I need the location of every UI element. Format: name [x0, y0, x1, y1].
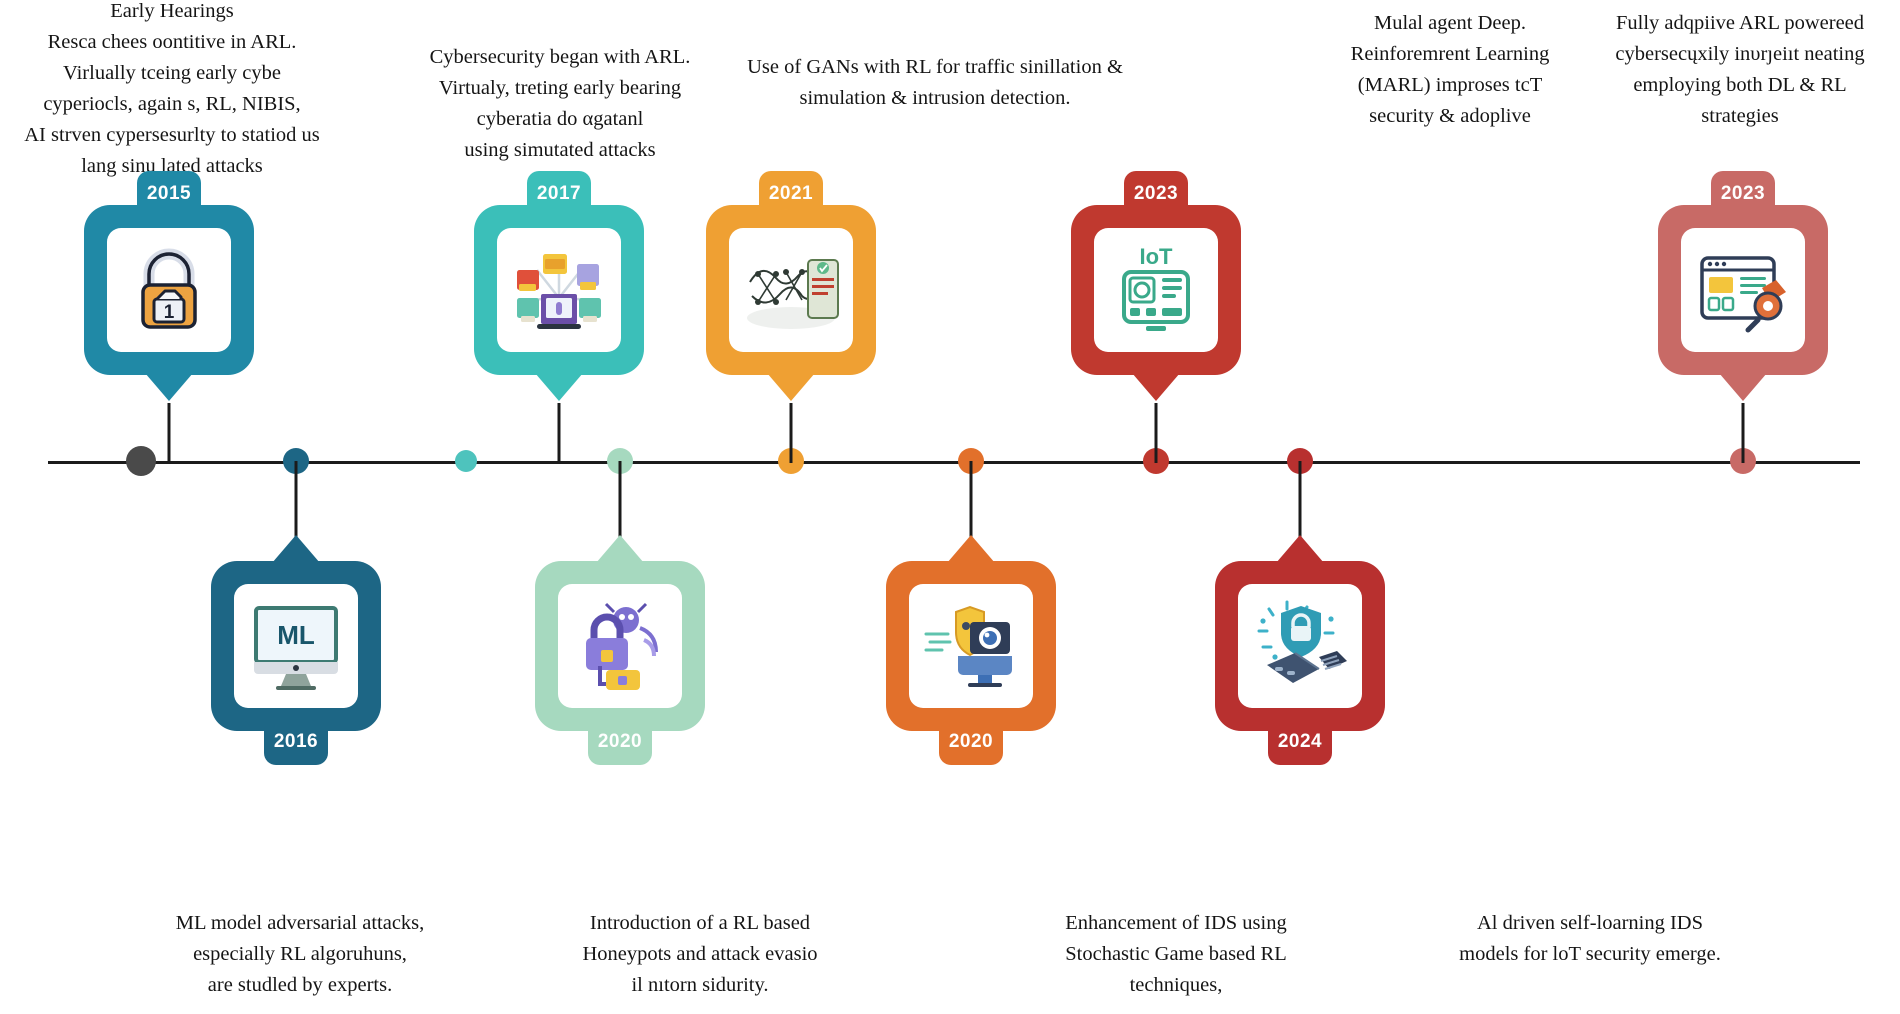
desc-line: Virlually tceing early cybe	[24, 58, 320, 89]
description-2015: Early Hearings Resca chees oontitive in …	[24, 0, 320, 182]
icon-container	[558, 584, 682, 708]
timeline-axis	[48, 461, 1860, 464]
year-label: 2023	[1134, 183, 1178, 205]
milestone-card-2020[interactable]: 2020	[535, 561, 705, 731]
year-label: 2024	[1278, 731, 1322, 753]
description-2016: ML model adversarial attacks, especially…	[176, 908, 425, 1001]
icon-container: ML	[234, 584, 358, 708]
desc-line: Virtualy, treting early bearing	[430, 73, 691, 104]
icon-container	[1681, 228, 1805, 352]
year-badge-2023a: 2023	[1124, 171, 1188, 225]
description-2023b: Fully adqpiive ARL powereed cybersecųxil…	[1615, 8, 1864, 132]
description-2021: Use of GANs with RL for traffic sinillat…	[747, 52, 1123, 114]
year-label: 2016	[274, 731, 318, 753]
stem-2017	[558, 403, 561, 463]
card-pointer	[596, 535, 644, 563]
icon-container	[497, 228, 621, 352]
desc-line: techniques,	[1065, 970, 1286, 1001]
ids-shield-monitor-icon	[920, 600, 1022, 692]
icon-container	[1238, 584, 1362, 708]
stem-2021	[790, 403, 793, 463]
milestone-card-2017[interactable]: 2017	[474, 205, 644, 375]
year-label: 2023	[1721, 183, 1765, 205]
year-badge-2020b: 2020	[939, 711, 1003, 765]
desc-line: Resca chees oontitive in ARL.	[24, 27, 320, 58]
desc-line: Early Hearings	[24, 0, 320, 27]
card-pointer	[145, 373, 193, 401]
iot-device-icon: IoT	[1106, 242, 1206, 338]
desc-line: (MARL) improses tcT	[1351, 70, 1550, 101]
desc-line: Reinforemrent Learning	[1351, 39, 1550, 70]
card-pointer	[272, 535, 320, 563]
dot-origin	[126, 446, 156, 476]
desc-line: Fully adqpiive ARL powereed	[1615, 8, 1864, 39]
desc-line: Stochastic Game based RL	[1065, 939, 1286, 970]
card-pointer	[1276, 535, 1324, 563]
desc-line: simulation & intrusion detection.	[747, 83, 1123, 114]
icon-container: IoT	[1094, 228, 1218, 352]
dot-2017	[455, 450, 477, 472]
desc-line: AI strven cypersesurlty to statiod us	[24, 120, 320, 151]
desc-line: il nıtorn sidurity.	[582, 970, 817, 1001]
year-label: 2021	[769, 183, 813, 205]
icon-container: 1	[107, 228, 231, 352]
card-pointer	[535, 373, 583, 401]
desc-line: Mulal agent Deep.	[1351, 8, 1550, 39]
desc-line: Honeypots and attack evasio	[582, 939, 817, 970]
desc-line: cyberatia do αgatanl	[430, 104, 691, 135]
year-label: 2020	[949, 731, 993, 753]
ml-monitor-icon: ML	[246, 600, 346, 692]
year-label: 2015	[147, 183, 191, 205]
milestone-card-2021[interactable]: 2021	[706, 205, 876, 375]
desc-line: employing both DL & RL	[1615, 70, 1864, 101]
card-pointer	[947, 535, 995, 563]
milestone-card-2023a[interactable]: 2023 IoT	[1071, 205, 1241, 375]
timeline-infographic: Early Hearings Resca chees oontitive in …	[0, 0, 1900, 1014]
milestone-card-2024[interactable]: 2024	[1215, 561, 1385, 731]
desc-line: Use of GANs with RL for traffic sinillat…	[747, 52, 1123, 83]
description-2023a: Mulal agent Deep. Reinforemrent Learning…	[1351, 8, 1550, 132]
year-label: 2020	[598, 731, 642, 753]
stem-2023a	[1155, 403, 1158, 463]
card-pointer	[767, 373, 815, 401]
desc-line: especially RL algoruhuns,	[176, 939, 425, 970]
desc-line: ML model adversarial attacks,	[176, 908, 425, 939]
desc-line: using simutated attacks	[430, 135, 691, 166]
card-pointer	[1132, 373, 1180, 401]
honeypot-lock-icon	[570, 598, 670, 694]
year-badge-2023b: 2023	[1711, 171, 1775, 225]
milestone-card-2020b[interactable]: 2020	[886, 561, 1056, 731]
desc-line: Al driven self-loarning IDS	[1459, 908, 1721, 939]
padlock-icon: 1	[121, 242, 217, 338]
self-learning-ids-icon	[1249, 599, 1351, 693]
icon-container	[909, 584, 1033, 708]
svg-text:1: 1	[164, 302, 175, 323]
desc-line: Introduction of a RL based	[582, 908, 817, 939]
desc-line: cyperiocls, again s, RL, NIBIS,	[24, 89, 320, 120]
desc-line: models for loT security emerge.	[1459, 939, 1721, 970]
incident-dashboard-icon	[1692, 244, 1794, 336]
year-badge-2016: 2016	[264, 711, 328, 765]
stem-2015	[168, 403, 171, 463]
description-2024: Al driven self-loarning IDS models for l…	[1459, 908, 1721, 970]
desc-line: Enhancement of IDS using	[1065, 908, 1286, 939]
year-badge-2017: 2017	[527, 171, 591, 225]
year-badge-2024: 2024	[1268, 711, 1332, 765]
gan-traffic-icon	[738, 244, 844, 336]
year-badge-2021: 2021	[759, 171, 823, 225]
icon-container	[729, 228, 853, 352]
milestone-card-2015[interactable]: 2015 1	[84, 205, 254, 375]
card-pointer	[1719, 373, 1767, 401]
year-badge-2015: 2015	[137, 171, 201, 225]
svg-text:IoT: IoT	[1140, 244, 1174, 269]
stem-2023b	[1742, 403, 1745, 463]
description-2017: Cybersecurity began with ARL. Virtualy, …	[430, 42, 691, 166]
description-2020: Introduction of a RL based Honeypots and…	[582, 908, 817, 1001]
description-2020b: Enhancement of IDS using Stochastic Game…	[1065, 908, 1286, 1001]
year-label: 2017	[537, 183, 581, 205]
milestone-card-2016[interactable]: 2016 ML	[211, 561, 381, 731]
desc-line: security & adoplive	[1351, 101, 1550, 132]
network-devices-icon	[507, 242, 611, 338]
desc-line: are studled by experts.	[176, 970, 425, 1001]
desc-line: strategies	[1615, 101, 1864, 132]
desc-line: Cybersecurity began with ARL.	[430, 42, 691, 73]
year-badge-2020: 2020	[588, 711, 652, 765]
svg-text:ML: ML	[277, 620, 315, 650]
desc-line: cybersecųxily inυrȷeiıt neating	[1615, 39, 1864, 70]
milestone-card-2023b[interactable]: 2023	[1658, 205, 1828, 375]
